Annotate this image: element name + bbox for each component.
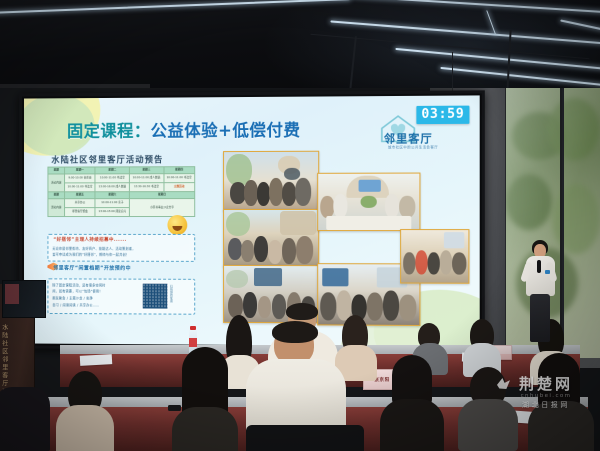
cell-r0c3: 10:00-11:00 书法室: [164, 174, 195, 183]
qr-caption: 扫码预约使用: [168, 285, 172, 303]
audience-area: 张京阳: [0, 301, 600, 451]
th2-0: 星期: [48, 192, 65, 199]
ceiling: [0, 0, 600, 92]
winking-emoji-icon: [167, 215, 187, 235]
th2-2: 星期六: [95, 192, 129, 199]
table-row: 活动内容 9:00-10:00 音乐班 10:00-11:00 书法室 10:0…: [48, 174, 195, 183]
photo-community-gathering: [223, 151, 319, 211]
table-row: 10:00-11:00 书法室 13:00-16:00 成人舞蹈 13:30-1…: [48, 183, 195, 192]
th2-3: 星期日: [129, 192, 194, 199]
cell-r1c2: 13:30-16:30 书法室: [129, 183, 163, 192]
photo-shelf-room-workshop: [223, 209, 319, 267]
booking-heading: 邻里客厅“闲置档期”开放预约中: [53, 265, 131, 272]
th2-1: 星期五: [65, 192, 96, 199]
countdown-timer: 03:59: [416, 106, 469, 125]
slide-title-part2: 公益体验+低偿付费: [151, 121, 301, 141]
cell-b1c0: 邻里客厅聚会: [65, 208, 96, 217]
booking-line-2: 间，如有需要，可以“包场”使用！: [52, 288, 102, 293]
presenter-speaker: [521, 240, 561, 355]
document-sheet: [80, 354, 112, 366]
photo-group-meal: [400, 229, 469, 284]
presenter-skirt: [530, 294, 550, 342]
cell-r0c2: 10:00-11:00 成人舞蹈: [129, 174, 163, 183]
cell-b0c1: 10:00-11:00 亲子: [95, 199, 129, 208]
booking-line-1: 除了固定课程活动，还有很多空闲时: [52, 282, 105, 287]
watermark: 荆楚网 cnhubei.com 湖北日报网: [500, 377, 592, 417]
chair-back: [246, 425, 364, 451]
cell-b0c0: 共享办公: [65, 199, 96, 208]
row-label: 活动内容: [48, 174, 65, 192]
cell-r1c1: 13:00-16:00 成人舞蹈: [95, 183, 129, 192]
watermark-url: cnhubei.com: [500, 393, 592, 399]
presenter-badge: [545, 270, 550, 274]
watermark-main: 荆楚网: [500, 377, 592, 392]
schedule-title: 水陆社区邻里客厅活动预告: [51, 153, 163, 165]
recruit-note-line-1: 无论你是邻里街坊、友好商户、技能达人、活动策划者，: [52, 246, 135, 251]
schedule-table: 星期 星期一 星期二 星期三 星期四 活动内容 9:00-10:00 音乐班 1…: [47, 166, 195, 217]
cell-r1c3: 主题活动: [164, 183, 195, 192]
cell-r1c0: 10:00-11:00 书法室: [65, 183, 96, 192]
booking-line-3: 朋友聚会 / 主题沙龙 / 安静: [52, 295, 92, 300]
microphone-icon: [537, 260, 541, 273]
photograph-scene: 固定课程：公益体验+低偿付费 邻里客厅 城市社区中的公共生活会客厅 03:59 …: [0, 0, 600, 451]
cell-r0c1: 10:00-11:00 书法室: [95, 174, 129, 183]
watermark-sub: 湖北日报网: [500, 400, 592, 410]
slide-title-part1: 固定课程：: [67, 122, 151, 141]
row-label-2: 活动内容: [48, 199, 65, 217]
recruit-note-line-2: 皆可申请成为我们的“好搭邻”，期待与你一起共创！: [52, 252, 129, 257]
table-row: 活动内容 共享办公 10:00-11:00 亲子 小区书事主沙龙分享: [48, 199, 195, 208]
cell-b0c2: 小区书事主沙龙分享: [129, 199, 194, 217]
slide-title: 固定课程：公益体验+低偿付费: [67, 117, 300, 142]
brand-subtitle: 城市社区中的公共生活会客厅: [388, 144, 438, 149]
recruit-note-heading: “好搭邻”主理人持续招募中......: [53, 237, 126, 243]
cell-r0c0: 9:00-10:00 音乐班: [65, 174, 96, 183]
smartphone-on-table: [168, 405, 181, 411]
th-0: 星期: [48, 167, 65, 174]
cell-b1c1: 13:00-15:00 阅读自习: [95, 208, 129, 217]
photo-long-table-banquet: [317, 173, 420, 232]
